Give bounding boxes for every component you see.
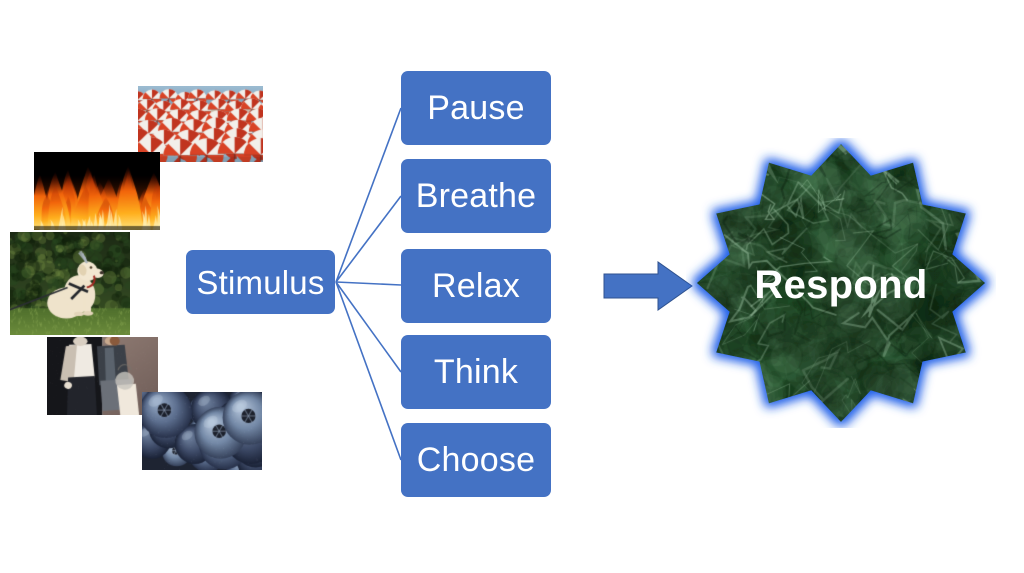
- photo-blueberries: [142, 392, 262, 470]
- connector-line-2: [336, 196, 401, 282]
- action-box-pause[interactable]: Pause: [401, 71, 551, 145]
- photo-fire-flames-canvas: [34, 152, 160, 230]
- connector-line-1: [336, 108, 401, 282]
- photo-dog-on-grass-canvas: [10, 232, 130, 335]
- action-box-breathe[interactable]: Breathe: [401, 159, 551, 233]
- action-label-think: Think: [434, 355, 518, 389]
- action-label-breathe: Breathe: [416, 179, 536, 213]
- stimulus-label: Stimulus: [196, 266, 324, 299]
- stimulus-box[interactable]: Stimulus: [186, 250, 335, 314]
- diagram-canvas: Stimulus Pause Breathe Relax Think Choos…: [0, 0, 1024, 573]
- photo-blueberries-canvas: [142, 392, 262, 470]
- action-box-relax[interactable]: Relax: [401, 249, 551, 323]
- photo-beach-umbrellas: [138, 86, 263, 162]
- action-box-think[interactable]: Think: [401, 335, 551, 409]
- connector-line-3: [336, 282, 401, 285]
- action-label-choose: Choose: [417, 443, 535, 477]
- connector-line-5: [336, 282, 401, 460]
- connector-line-4: [336, 282, 401, 372]
- action-label-pause: Pause: [427, 91, 524, 125]
- photo-fire-flames: [34, 152, 160, 230]
- respond-star-path: [697, 144, 985, 422]
- respond-starburst-shape[interactable]: [686, 138, 996, 428]
- action-box-choose[interactable]: Choose: [401, 423, 551, 497]
- flow-arrow-right-icon: [602, 260, 694, 312]
- action-label-relax: Relax: [432, 269, 520, 303]
- photo-dog-on-grass: [10, 232, 130, 335]
- photo-beach-umbrellas-canvas: [138, 86, 263, 162]
